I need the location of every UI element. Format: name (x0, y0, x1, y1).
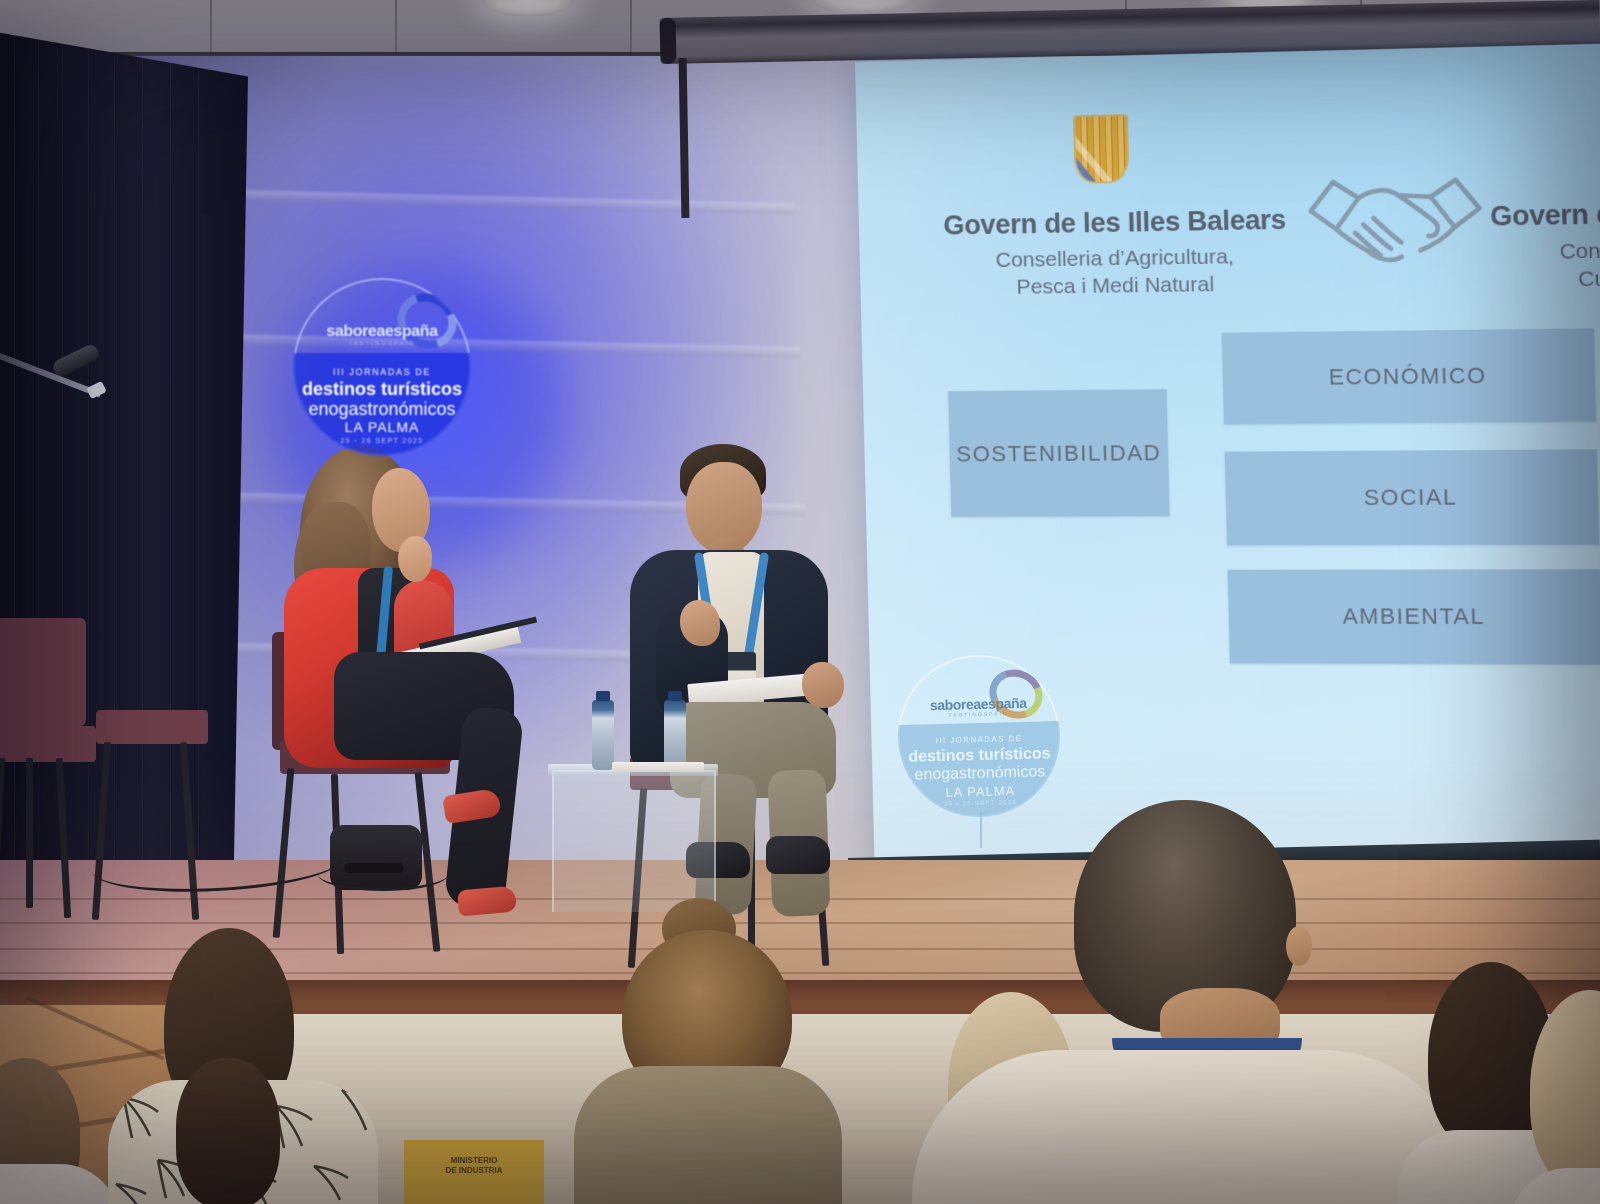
conference-photo: saboreaespaña TASTINGSPAIN III JORNADAS … (0, 0, 1600, 1204)
slide-right-organisation: Govern d Conse Cu (1490, 195, 1600, 295)
slide-left-organisation: Govern de les Illes Balears Conselleria … (921, 204, 1311, 303)
speaker-shoe (766, 836, 830, 874)
audience-hair-front (176, 1058, 280, 1204)
handshake-icon (1297, 155, 1494, 291)
slide-box-sostenibilidad: SOSTENIBILIDAD (948, 389, 1169, 517)
water-bottle (664, 700, 686, 770)
badge-line4: LA PALMA (293, 420, 471, 436)
ministry-banner-line1: MINISTERIO (404, 1156, 544, 1166)
right-org-subtitle-2: Cu (1491, 265, 1600, 296)
left-org-subtitle-2: Pesca i Medi Natural (922, 270, 1311, 303)
badge-line1: III JORNADAS DE (293, 367, 471, 377)
left-org-title: Govern de les Illes Balears (921, 204, 1310, 242)
floor-cable (318, 858, 448, 891)
speaker-hand (680, 600, 720, 646)
wall-projected-event-badge: saboreaespaña TASTINGSPAIN III JORNADAS … (293, 278, 471, 456)
moderator-shoe (457, 886, 517, 917)
badge-brand-sub: TASTINGSPAIN (293, 341, 471, 347)
slide-box-ambiental: AMBIENTAL (1228, 569, 1600, 664)
slide-box-economico: ECONÓMICO (1222, 328, 1596, 424)
projector-screen-cap (660, 18, 677, 64)
badge-stem (980, 812, 982, 848)
audience-shirt (912, 1050, 1472, 1204)
glass-side-table (552, 770, 716, 912)
badge-line2: destinos turísticos (293, 379, 471, 399)
empty-chair (96, 660, 206, 940)
balearic-shield-icon (1073, 114, 1130, 184)
right-org-title: Govern d (1490, 195, 1600, 233)
empty-chair (0, 618, 93, 918)
speaker-hand (802, 662, 844, 708)
ministry-banner: MINISTERIO DE INDUSTRIA (404, 1140, 544, 1204)
moderator-hand (398, 536, 432, 582)
right-org-subtitle-1: Conse (1491, 237, 1600, 268)
badge-brand: saboreaespaña (293, 323, 471, 341)
water-bottle (592, 700, 614, 770)
audience-ear (1286, 926, 1312, 966)
audience-jacket (574, 1066, 842, 1204)
slide-box-social: SOCIAL (1225, 449, 1600, 545)
badge-brandline: saboreaespaña TASTINGSPAIN (293, 323, 471, 347)
papers-on-table (612, 762, 704, 772)
ministry-banner-line2: DE INDUSTRIA (404, 1166, 544, 1176)
badge-line3: enogastronómicos (293, 399, 471, 419)
badge-line5: 25 - 26 SEPT 2025 (293, 438, 471, 446)
badge-brandline: saboreaespaña TASTINGSPAIN (897, 694, 1059, 720)
